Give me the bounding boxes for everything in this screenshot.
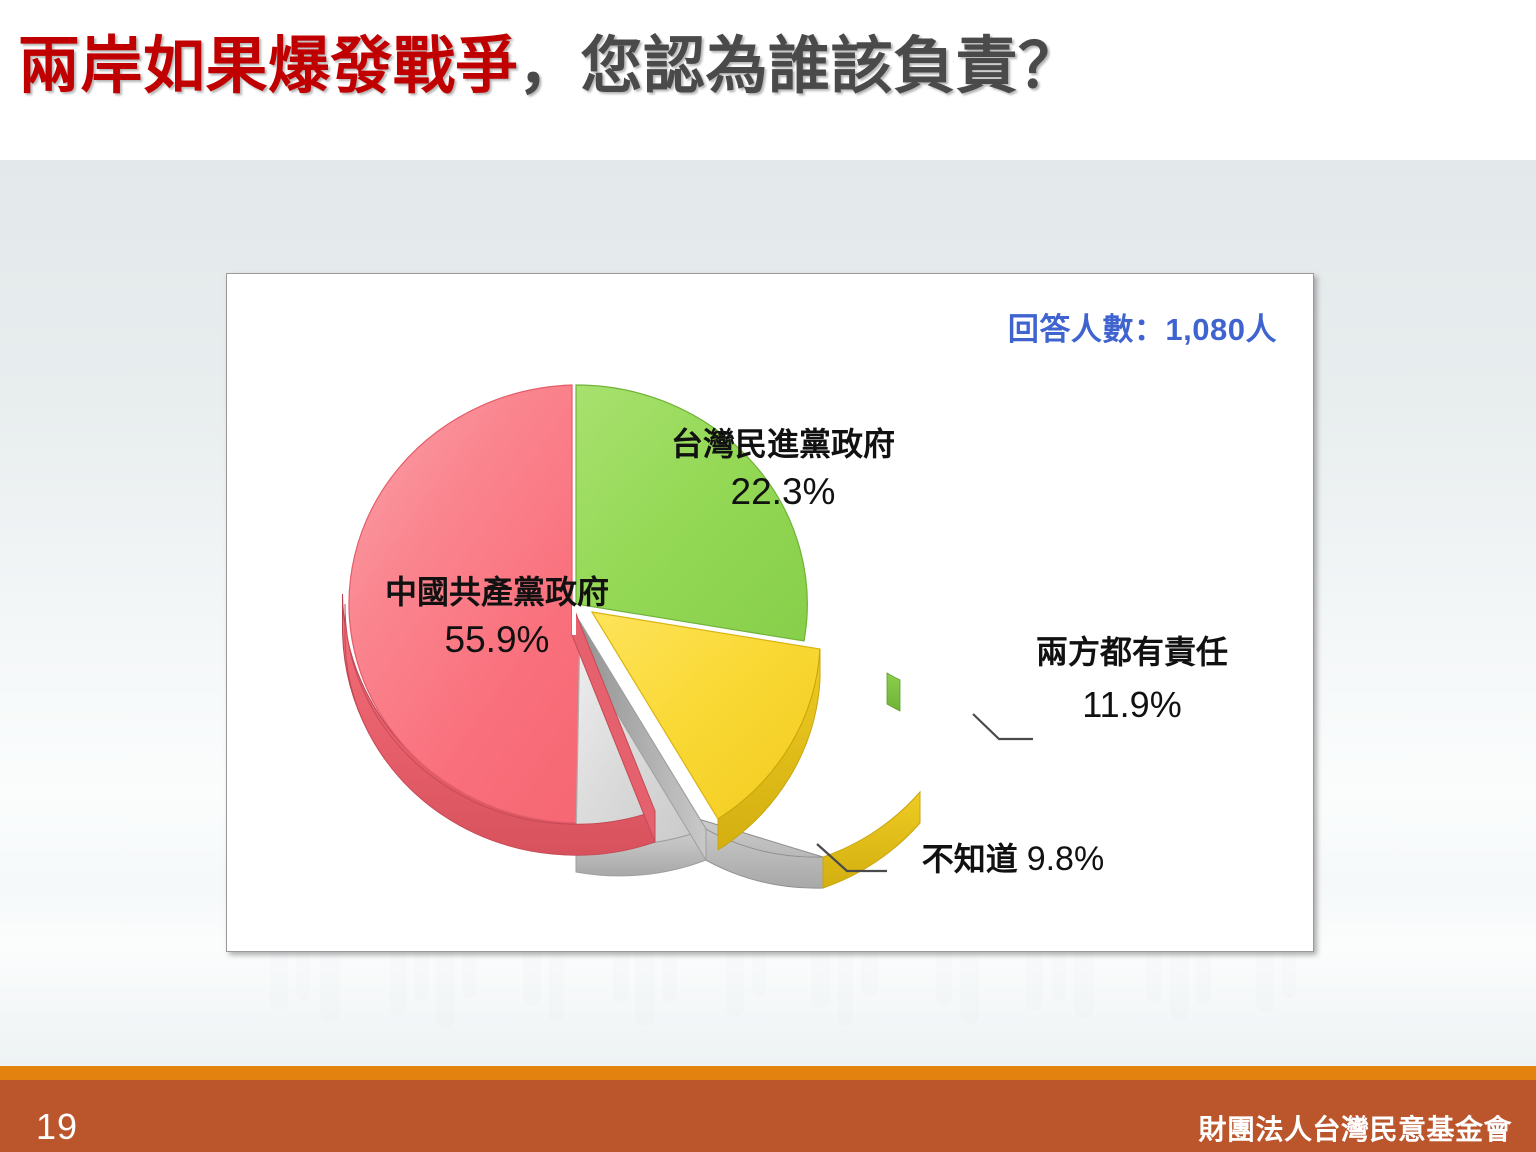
callout-label-dk-value: 9.8% [1027,840,1105,878]
slice-label-ccp-name: 中國共產黨政府 [347,572,647,612]
chart-panel: 回答人數：1,080人 [226,273,1314,952]
organization-name: 財團法人台灣民意基金會 [1198,1108,1512,1148]
slice-label-dpp: 台灣民進黨政府 22.3% [633,424,933,516]
callout-label-both-value: 11.9% [997,682,1267,729]
page-title: 兩岸如果爆發戰爭，您認為誰該負責？ [18,34,1081,99]
slice-label-dpp-name: 台灣民進黨政府 [633,424,933,464]
page-title-dark: ，您認為誰該負責？ [518,32,1081,101]
footer-stripe [0,1066,1536,1080]
callout-label-both-name: 兩方都有責任 [997,632,1267,674]
slide: 兩岸如果爆發戰爭，您認為誰該負責？ 回答人數：1,080人 [0,0,1536,1152]
page-number: 19 [36,1106,78,1148]
header-band: 兩岸如果爆發戰爭，您認為誰該負責？ [0,0,1536,160]
slice-label-dpp-value: 22.3% [633,468,933,516]
callout-label-dk: 不知道 9.8% [863,834,1163,880]
slice-label-ccp: 中國共產黨政府 55.9% [347,572,647,664]
footer: 19 財團法人台灣民意基金會 [0,1066,1536,1152]
slice-label-ccp-value: 55.9% [347,616,647,664]
callout-label-dk-name: 不知道 [922,841,1018,877]
callout-label-dk-text: 不知道 9.8% [922,841,1104,877]
page-title-red: 兩岸如果爆發戰爭 [18,32,518,101]
footer-body: 19 財團法人台灣民意基金會 [0,1080,1536,1152]
chart-inner: 回答人數：1,080人 [227,274,1313,951]
callout-label-both: 兩方都有責任 11.9% [997,632,1267,728]
